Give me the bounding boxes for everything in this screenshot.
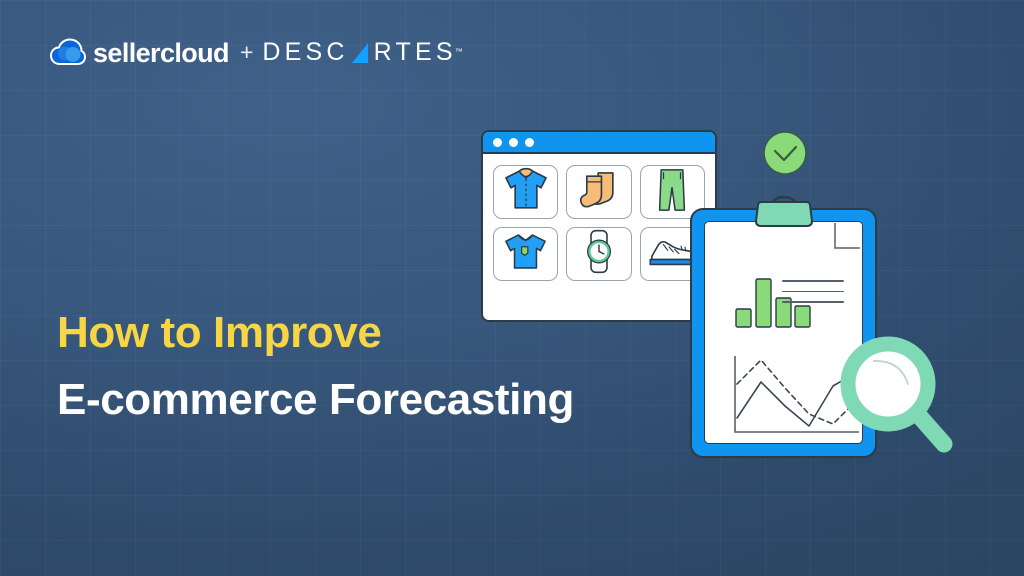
page-title: How to Improve E-commerce Forecasting <box>57 306 574 427</box>
product-cell-watch[interactable] <box>566 227 631 281</box>
pants-icon <box>655 167 689 218</box>
triangle-a-icon <box>350 42 370 64</box>
window-dot-close[interactable] <box>493 138 502 147</box>
product-catalog-window <box>481 130 717 322</box>
descartes-prefix: DESC <box>262 40 348 65</box>
product-grid <box>483 154 715 292</box>
trademark-symbol: ™ <box>455 48 463 56</box>
magnifier-icon <box>838 334 956 456</box>
clipboard-clip-icon <box>753 201 815 227</box>
descartes-wordmark: DESC RTES ™ <box>262 40 462 65</box>
poster-canvas: sellercloud + DESC RTES ™ How to Improve… <box>0 0 1024 576</box>
brand-logo-bar: sellercloud + DESC RTES ™ <box>50 38 463 66</box>
product-cell-tshirt[interactable] <box>493 227 558 281</box>
plus-separator: + <box>240 41 253 64</box>
window-titlebar <box>483 132 715 154</box>
document-text-lines <box>782 280 844 312</box>
window-dot-maximize[interactable] <box>525 138 534 147</box>
product-cell-jacket[interactable] <box>493 165 558 219</box>
page-fold-corner-icon <box>834 222 862 250</box>
cloud-icon <box>50 38 86 66</box>
descartes-suffix: RTES <box>374 40 457 65</box>
document-text-line <box>782 291 844 293</box>
window-dot-minimize[interactable] <box>509 138 518 147</box>
jacket-icon <box>501 166 551 218</box>
document-text-line <box>782 280 844 282</box>
check-circle-icon <box>762 130 808 176</box>
headline-line-2: E-commerce Forecasting <box>57 373 574 428</box>
document-text-line <box>782 301 844 303</box>
product-cell-socks[interactable] <box>566 165 631 219</box>
socks-icon <box>577 168 621 217</box>
watch-icon <box>583 229 615 279</box>
tshirt-icon <box>502 231 549 277</box>
sellercloud-wordmark: sellercloud <box>93 40 229 67</box>
